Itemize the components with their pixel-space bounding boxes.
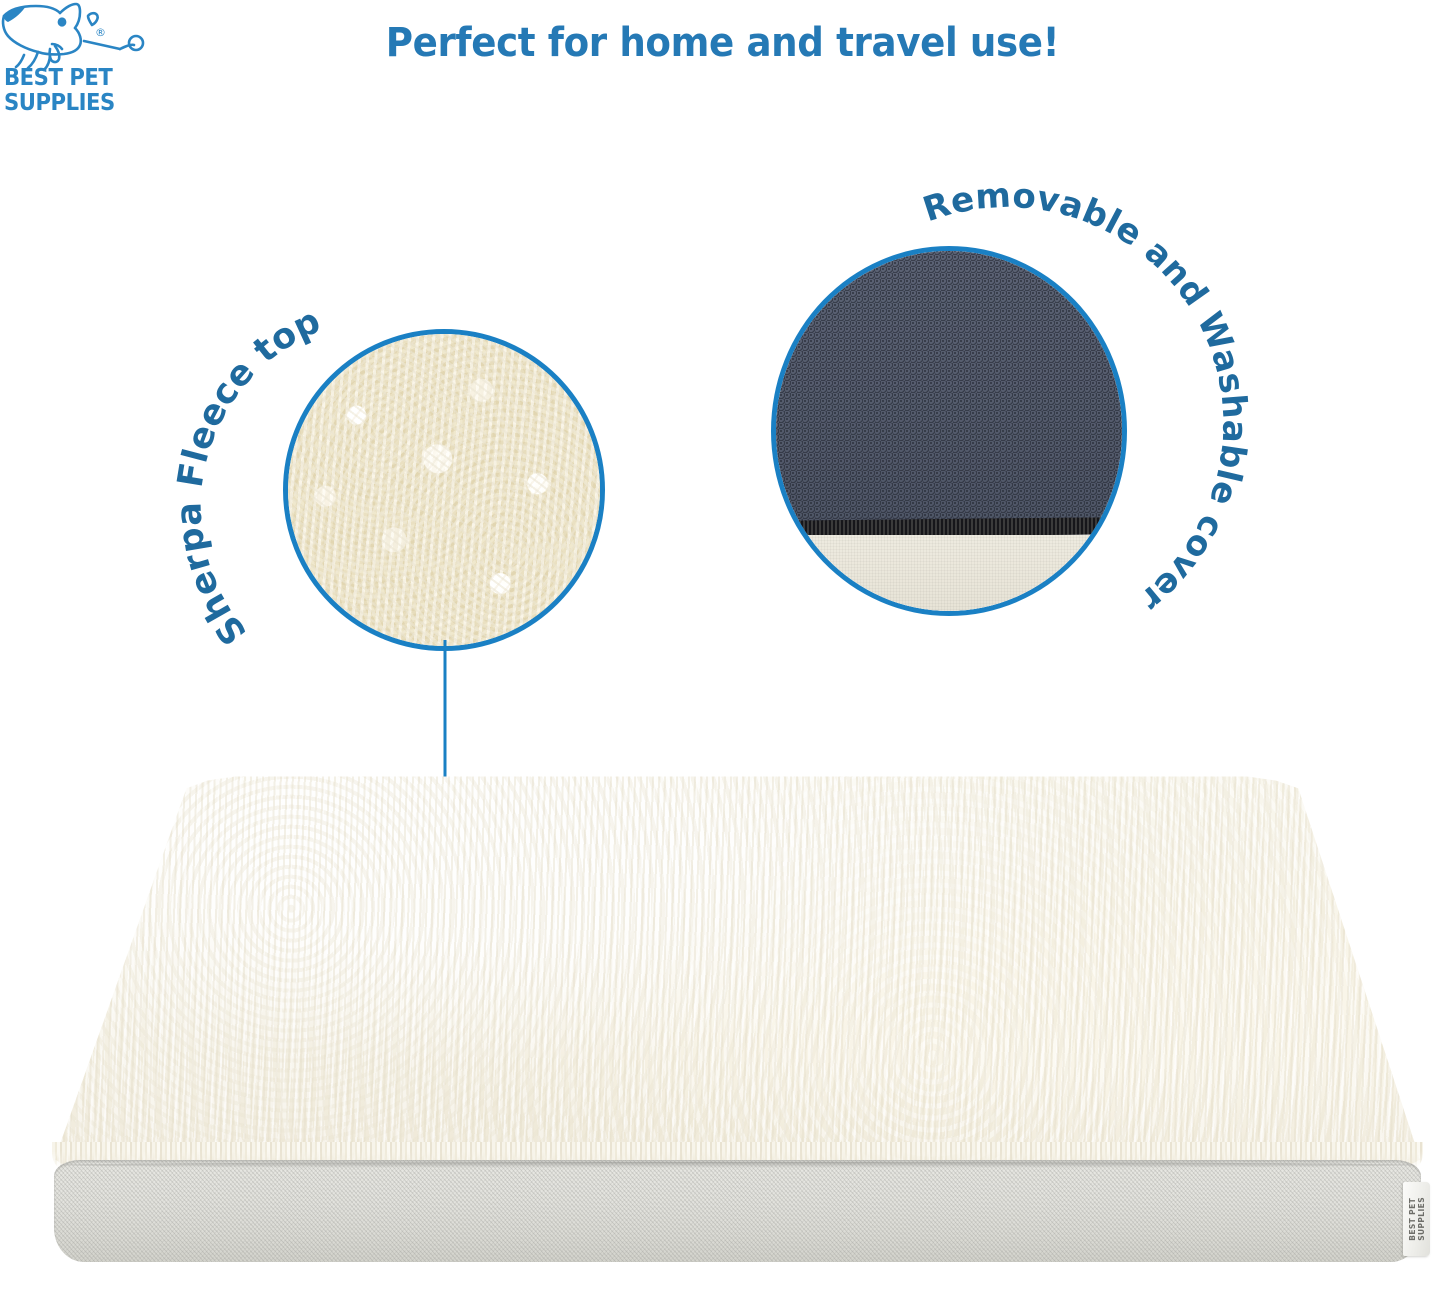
cover-inner-liner <box>771 535 1127 616</box>
brand-wordmark-line1: BEST PET <box>4 66 138 91</box>
cover-texture <box>776 251 1122 611</box>
fleece-texture <box>288 334 600 646</box>
brand-wordmark: BEST PET SUPPLIES <box>4 66 138 116</box>
bed-side-panel <box>54 1160 1421 1262</box>
washable-cover-swatch <box>771 246 1127 616</box>
headline-text: Perfect for home and travel use! <box>51 20 1395 66</box>
bed-brand-tag-text: BEST PET SUPPLIES <box>1408 1197 1426 1241</box>
sherpa-fleece-swatch <box>283 329 605 651</box>
bed-side-seam <box>60 1162 1415 1168</box>
dog-bed-product: BEST PET SUPPLIES <box>40 770 1435 1282</box>
cover-gray-mesh <box>771 246 1127 525</box>
brand-wordmark-line2: SUPPLIES <box>4 91 138 116</box>
bed-sherpa-top-surface <box>40 770 1435 1178</box>
bed-brand-tag: BEST PET SUPPLIES <box>1403 1182 1430 1256</box>
product-infographic: ® BEST PET SUPPLIES Perfect for home and… <box>0 0 1445 1292</box>
